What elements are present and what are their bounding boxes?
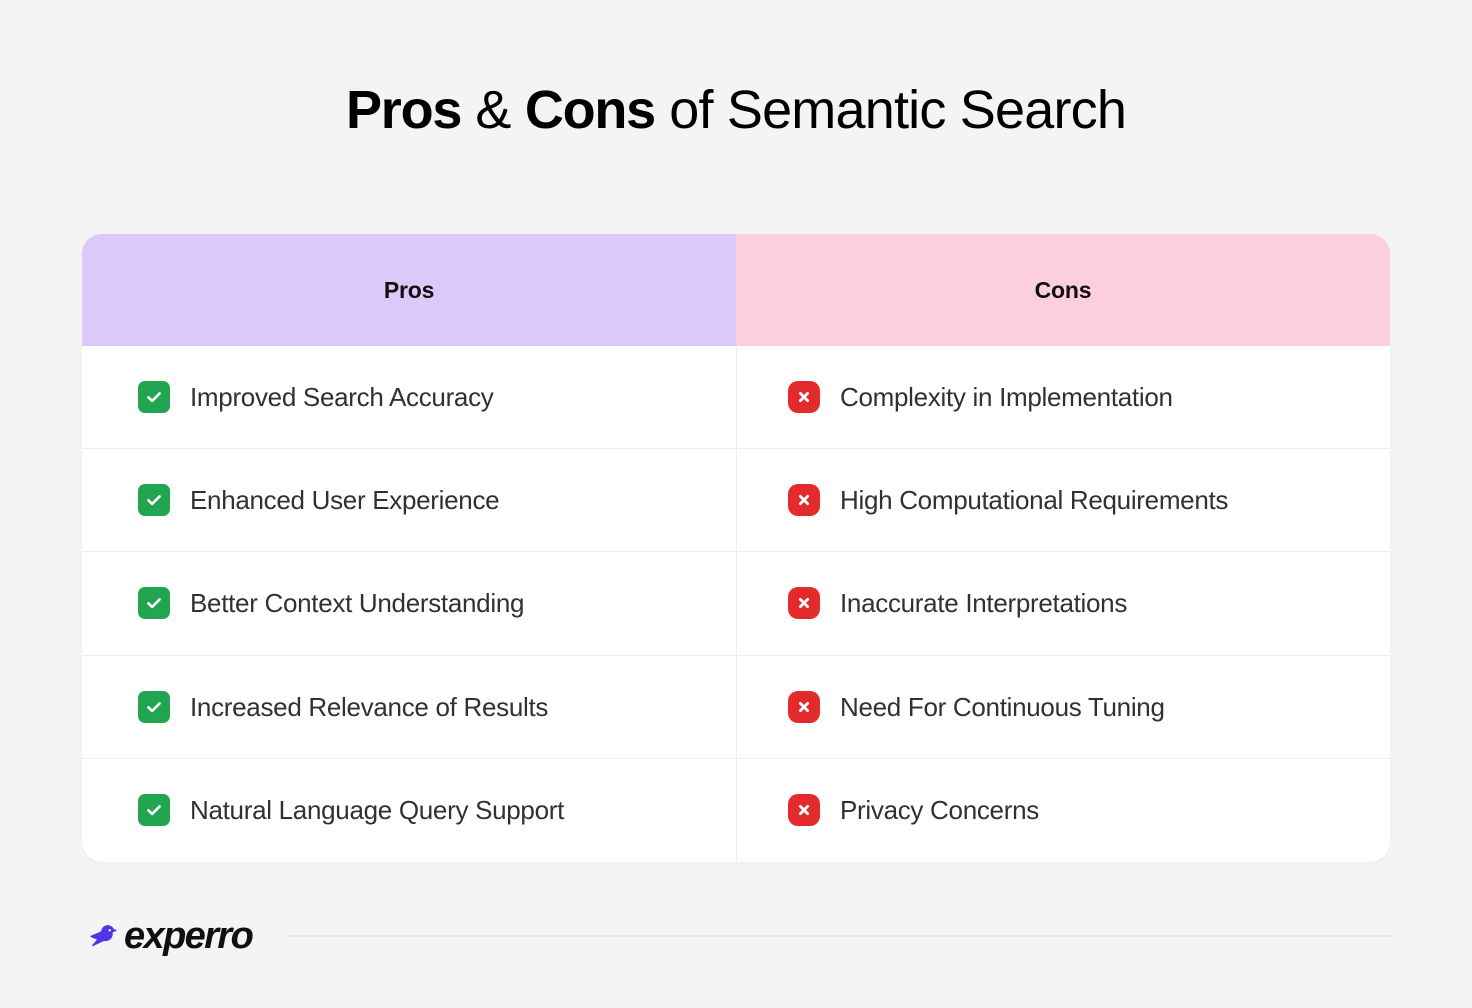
cons-item-label: Complexity in Implementation <box>840 381 1173 413</box>
footer: experro <box>88 905 1390 967</box>
pros-item-label: Increased Relevance of Results <box>190 691 548 723</box>
page-title: Pros & Cons of Semantic Search <box>0 78 1472 142</box>
pros-cell: Natural Language Query Support <box>82 759 736 862</box>
experro-logo: experro <box>88 916 252 956</box>
table-header-row: Pros Cons <box>82 234 1390 346</box>
pros-cons-table: Pros Cons Improved Search Accuracy <box>82 234 1390 862</box>
column-header-cons-label: Cons <box>1035 277 1092 304</box>
cross-icon <box>788 381 820 413</box>
cons-item-label: Need For Continuous Tuning <box>840 691 1165 723</box>
footer-divider <box>288 935 1390 937</box>
cross-icon <box>788 587 820 619</box>
column-divider <box>736 346 737 862</box>
column-header-pros: Pros <box>82 234 736 346</box>
title-ampersand: & <box>461 80 525 140</box>
table-body: Improved Search Accuracy Complexity in I… <box>82 346 1390 862</box>
column-header-cons: Cons <box>736 234 1390 346</box>
cons-cell: Need For Continuous Tuning <box>736 656 1390 758</box>
title-rest: of Semantic Search <box>655 80 1126 140</box>
bird-icon <box>88 919 122 953</box>
check-icon <box>138 381 170 413</box>
cons-item-label: High Computational Requirements <box>840 484 1228 516</box>
infographic-page: Pros & Cons of Semantic Search Pros Cons… <box>0 0 1472 1008</box>
pros-item-label: Enhanced User Experience <box>190 484 499 516</box>
title-text: Pros & Cons of Semantic Search <box>0 78 1472 142</box>
title-pros: Pros <box>346 80 461 140</box>
cons-cell: Privacy Concerns <box>736 759 1390 862</box>
cons-cell: Inaccurate Interpretations <box>736 552 1390 654</box>
title-cons: Cons <box>525 80 655 140</box>
cross-icon <box>788 794 820 826</box>
cons-item-label: Privacy Concerns <box>840 794 1039 826</box>
cons-cell: Complexity in Implementation <box>736 346 1390 448</box>
pros-cell: Better Context Understanding <box>82 552 736 654</box>
check-icon <box>138 587 170 619</box>
pros-item-label: Natural Language Query Support <box>190 794 564 826</box>
column-header-pros-label: Pros <box>384 277 434 304</box>
check-icon <box>138 794 170 826</box>
cons-cell: High Computational Requirements <box>736 449 1390 551</box>
check-icon <box>138 484 170 516</box>
check-icon <box>138 691 170 723</box>
pros-item-label: Better Context Understanding <box>190 587 524 619</box>
pros-cell: Improved Search Accuracy <box>82 346 736 448</box>
brand-name: experro <box>124 916 252 956</box>
pros-cell: Enhanced User Experience <box>82 449 736 551</box>
pros-item-label: Improved Search Accuracy <box>190 381 494 413</box>
cons-item-label: Inaccurate Interpretations <box>840 587 1127 619</box>
pros-cell: Increased Relevance of Results <box>82 656 736 758</box>
cross-icon <box>788 691 820 723</box>
cross-icon <box>788 484 820 516</box>
